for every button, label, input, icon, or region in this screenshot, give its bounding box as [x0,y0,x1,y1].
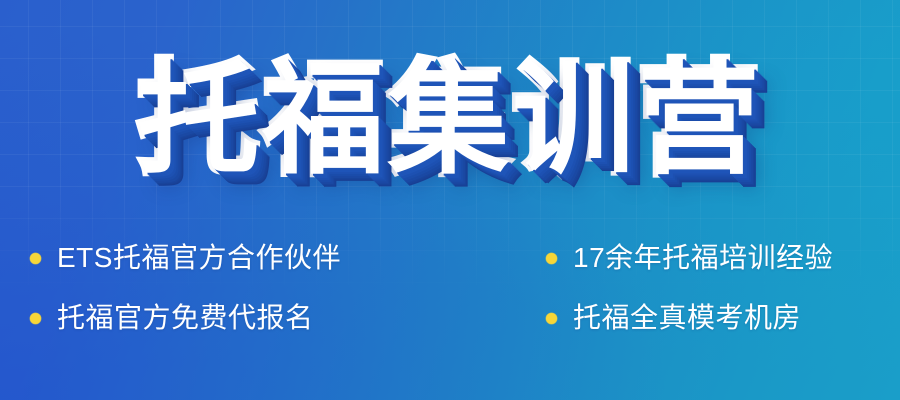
bullet-dot-icon [546,313,557,324]
feature-label: ETS托福官方合作伙伴 [57,243,341,274]
feature-item: ETS托福官方合作伙伴 [30,228,450,288]
feature-item: 17余年托福培训经验 [546,228,900,288]
feature-item: 托福官方免费代报名 [30,288,450,348]
bullet-dot-icon [30,313,41,324]
bullet-dot-icon [546,253,557,264]
feature-label: 托福全真模考机房 [573,303,801,334]
feature-label: 托福官方免费代报名 [57,303,314,334]
feature-list: ETS托福官方合作伙伴 托福官方免费代报名 17余年托福培训经验 托福全真模考机… [0,228,900,358]
feature-column-left: ETS托福官方合作伙伴 托福官方免费代报名 [30,228,450,348]
feature-item: 托福全真模考机房 [546,288,900,348]
bullet-dot-icon [30,253,41,264]
feature-label: 17余年托福培训经验 [573,243,833,274]
promo-banner: 托福集训营 ETS托福官方合作伙伴 托福官方免费代报名 17余年托福培训经验 托… [0,0,900,400]
feature-column-right: 17余年托福培训经验 托福全真模考机房 [546,228,900,348]
headline-container: 托福集训营 [0,40,900,200]
banner-headline: 托福集训营 [138,59,763,181]
